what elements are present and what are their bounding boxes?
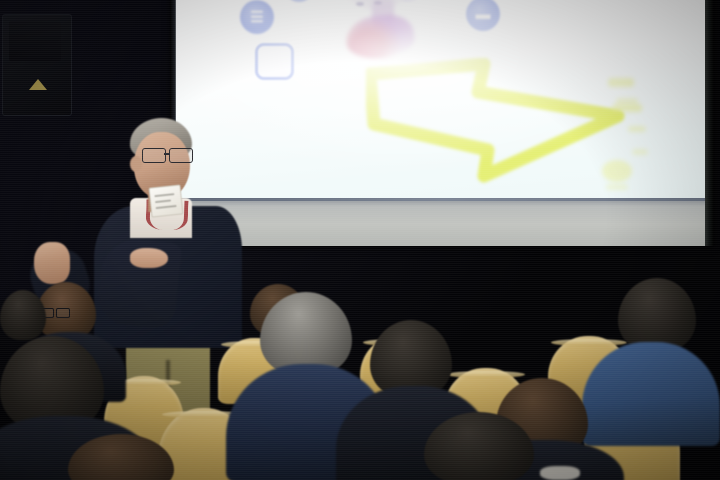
yellow-arrow (366, 58, 636, 188)
faint-mark (608, 78, 634, 87)
faint-mark (628, 126, 646, 132)
name-badge (149, 184, 184, 217)
badge-text-line (154, 193, 174, 197)
badge-text-line (156, 205, 177, 209)
badge-text-line (155, 199, 171, 203)
rounded-square-icon (255, 43, 294, 80)
audience-head (0, 290, 46, 340)
glasses-lens-right (56, 308, 70, 318)
audience-shoulders (582, 342, 720, 446)
speech-tag-icon: ▬ (466, 0, 500, 31)
audience-head (618, 278, 696, 352)
triangle-logo-icon (29, 79, 47, 90)
speech-tag-icon-glyph: ▬ (466, 0, 500, 31)
conference-scene: ☰ ▬ (0, 0, 720, 480)
faint-mark (632, 149, 648, 155)
person-icon-glyph: ☰ (240, 0, 274, 34)
faint-mark (612, 104, 642, 112)
screen-right-edge (705, 0, 714, 246)
speaker-grille (9, 21, 61, 61)
glasses-icon (142, 148, 198, 161)
shirt-collar (540, 466, 580, 480)
glasses-lens-right (169, 148, 193, 163)
person-icon: ☰ (240, 0, 274, 34)
figure-illustration (344, 12, 417, 62)
presenter-ear (130, 156, 142, 172)
partial-icon-top (284, 0, 314, 2)
faint-mark (606, 184, 628, 190)
audience (0, 250, 720, 480)
ceiling-speaker (2, 14, 72, 116)
figure-eye-left (356, 2, 364, 6)
faint-mark (602, 160, 632, 182)
glasses-lens-left (142, 148, 166, 163)
